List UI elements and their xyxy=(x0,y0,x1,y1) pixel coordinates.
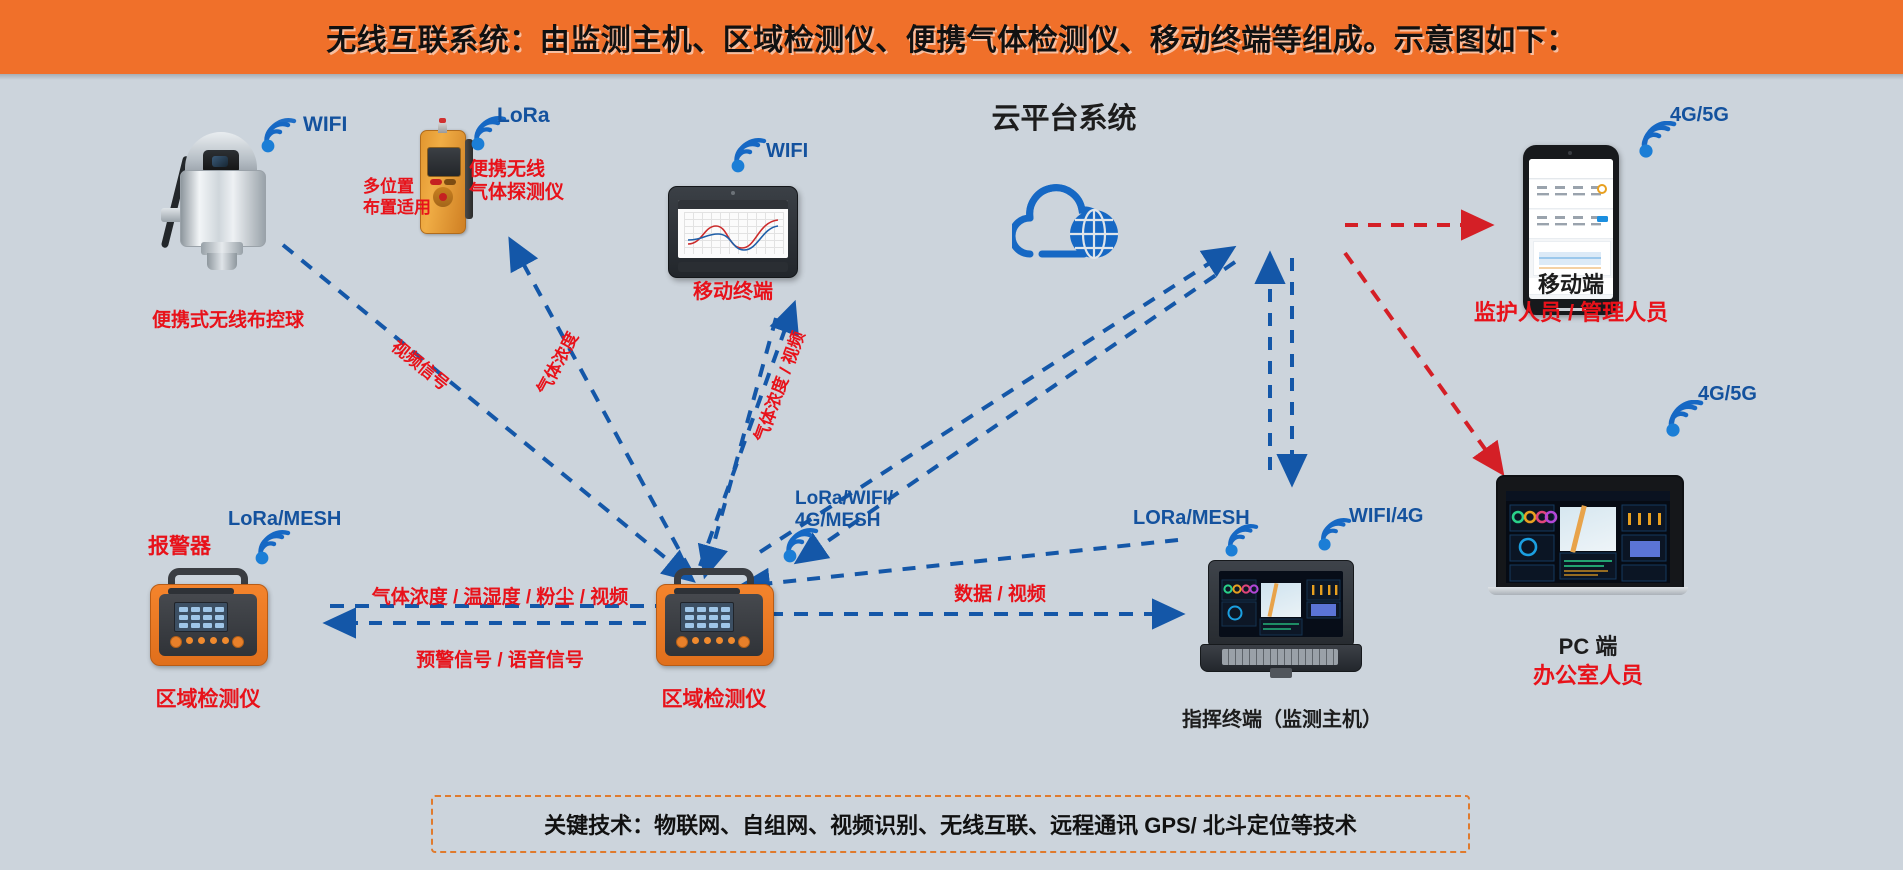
tablet-signal-label: WIFI xyxy=(766,140,808,164)
pc-base xyxy=(1488,587,1688,595)
phone-camera xyxy=(1568,151,1572,155)
gas-detector-note-line1: 多位置 xyxy=(363,177,414,197)
mobile-tablet-device xyxy=(668,186,798,278)
link-label-gas-and-video: 气体浓度 / 视频 xyxy=(746,327,809,445)
pc-lid xyxy=(1496,475,1684,591)
command-touchpad xyxy=(1270,668,1292,678)
detector-button-right xyxy=(444,179,456,185)
mobile-phone-role-label: 监护人员 / 管理人员 xyxy=(1474,300,1668,326)
gas-detector-note-line2: 布置适用 xyxy=(363,198,431,218)
sensor-tip xyxy=(438,122,447,133)
area-detector-left-label: 区域检测仪 xyxy=(156,688,261,713)
link-label-left-to-center-top: 气体浓度 / 温湿度 / 粉尘 / 视频 xyxy=(372,587,629,609)
wifi-icon-alarm xyxy=(252,530,292,566)
command-lid xyxy=(1208,560,1354,648)
area-detector-left-device xyxy=(150,568,266,664)
pc-terminal-device xyxy=(1488,475,1688,603)
mobile-tablet-label: 移动终端 xyxy=(693,281,773,305)
cloud-globe-icon xyxy=(1012,172,1132,269)
center-detector-signal-line1: LoRa/WIFI/ xyxy=(795,488,893,510)
tablet-screen xyxy=(678,200,788,258)
link-label-left-to-center-bottom: 预警信号 / 语音信号 xyxy=(416,650,584,672)
key-technology-text: 关键技术：物联网、自组网、视频识别、无线互联、远程通讯 GPS/ 北斗定位等技术 xyxy=(544,808,1357,840)
detector-controls xyxy=(676,636,748,646)
cloud-platform-label: 云平台系统 xyxy=(991,102,1136,136)
pc-terminal-label: PC 端 xyxy=(1559,634,1618,660)
command-signal-right-label: WIFI/4G xyxy=(1349,505,1423,529)
gas-detector-label-line2: 气体探测仪 xyxy=(469,182,564,204)
mobile-phone-label: 移动端 xyxy=(1538,272,1604,298)
detector-controls xyxy=(170,636,242,646)
command-terminal-label: 指挥终端（监测主机） xyxy=(1182,709,1382,733)
header-shadow xyxy=(0,74,1903,80)
ptz-camera-label: 便携式无线布控球 xyxy=(152,310,304,332)
tablet-bottom-bezel xyxy=(678,262,788,272)
pc-screen xyxy=(1506,491,1670,583)
phone-signal-label: 4G/5G xyxy=(1670,104,1729,128)
area-detector-center-device xyxy=(656,568,772,664)
wifi-icon-tablet xyxy=(728,138,768,174)
camera-base xyxy=(207,253,237,270)
command-keyboard xyxy=(1222,649,1338,665)
wifi-icon-command-right xyxy=(1315,518,1353,552)
header-banner: 无线互联系统：由监测主机、区域检测仪、便携气体检测仪、移动终端等组成。示意图如下… xyxy=(0,0,1903,74)
tablet-camera xyxy=(731,191,735,195)
detector-dpad xyxy=(433,187,453,207)
key-technology-box: 关键技术：物联网、自组网、视频识别、无线互联、远程通讯 GPS/ 北斗定位等技术 xyxy=(431,795,1470,853)
wifi-icon-ptz xyxy=(258,118,298,154)
alarm-device-label: 报警器 xyxy=(148,535,211,560)
header-title: 无线互联系统：由监测主机、区域检测仪、便携气体检测仪、移动终端等组成。示意图如下… xyxy=(326,15,1577,59)
wifi-icon-command-left xyxy=(1222,524,1260,558)
command-terminal-device xyxy=(1200,560,1360,680)
command-screen xyxy=(1219,571,1343,637)
detector-screen xyxy=(427,147,461,177)
wifi-icon-center-detector xyxy=(780,528,820,564)
detector-display xyxy=(174,602,228,632)
ptz-signal-label: WIFI xyxy=(303,113,347,138)
pc-terminal-role-label: 办公室人员 xyxy=(1533,663,1643,689)
alarm-signal-label: LoRa/MESH xyxy=(228,508,341,532)
link-label-center-to-command: 数据 / 视频 xyxy=(954,584,1046,606)
area-detector-center-label: 区域检测仪 xyxy=(662,688,767,713)
gas-detector-signal-label: LoRa xyxy=(497,104,550,129)
link-label-video-signal: 视频信号 xyxy=(387,333,456,395)
pc-signal-label: 4G/5G xyxy=(1698,383,1757,407)
detector-button-left xyxy=(430,179,442,185)
gas-detector-label-line1: 便携无线 xyxy=(469,159,545,181)
link-label-gas-concentration: 气体浓度 xyxy=(529,327,583,399)
portable-gas-detector-device xyxy=(420,130,466,234)
detector-display xyxy=(680,602,734,632)
diagram-canvas: 无线互联系统：由监测主机、区域检测仪、便携气体检测仪、移动终端等组成。示意图如下… xyxy=(0,0,1903,870)
camera-body xyxy=(180,170,266,247)
